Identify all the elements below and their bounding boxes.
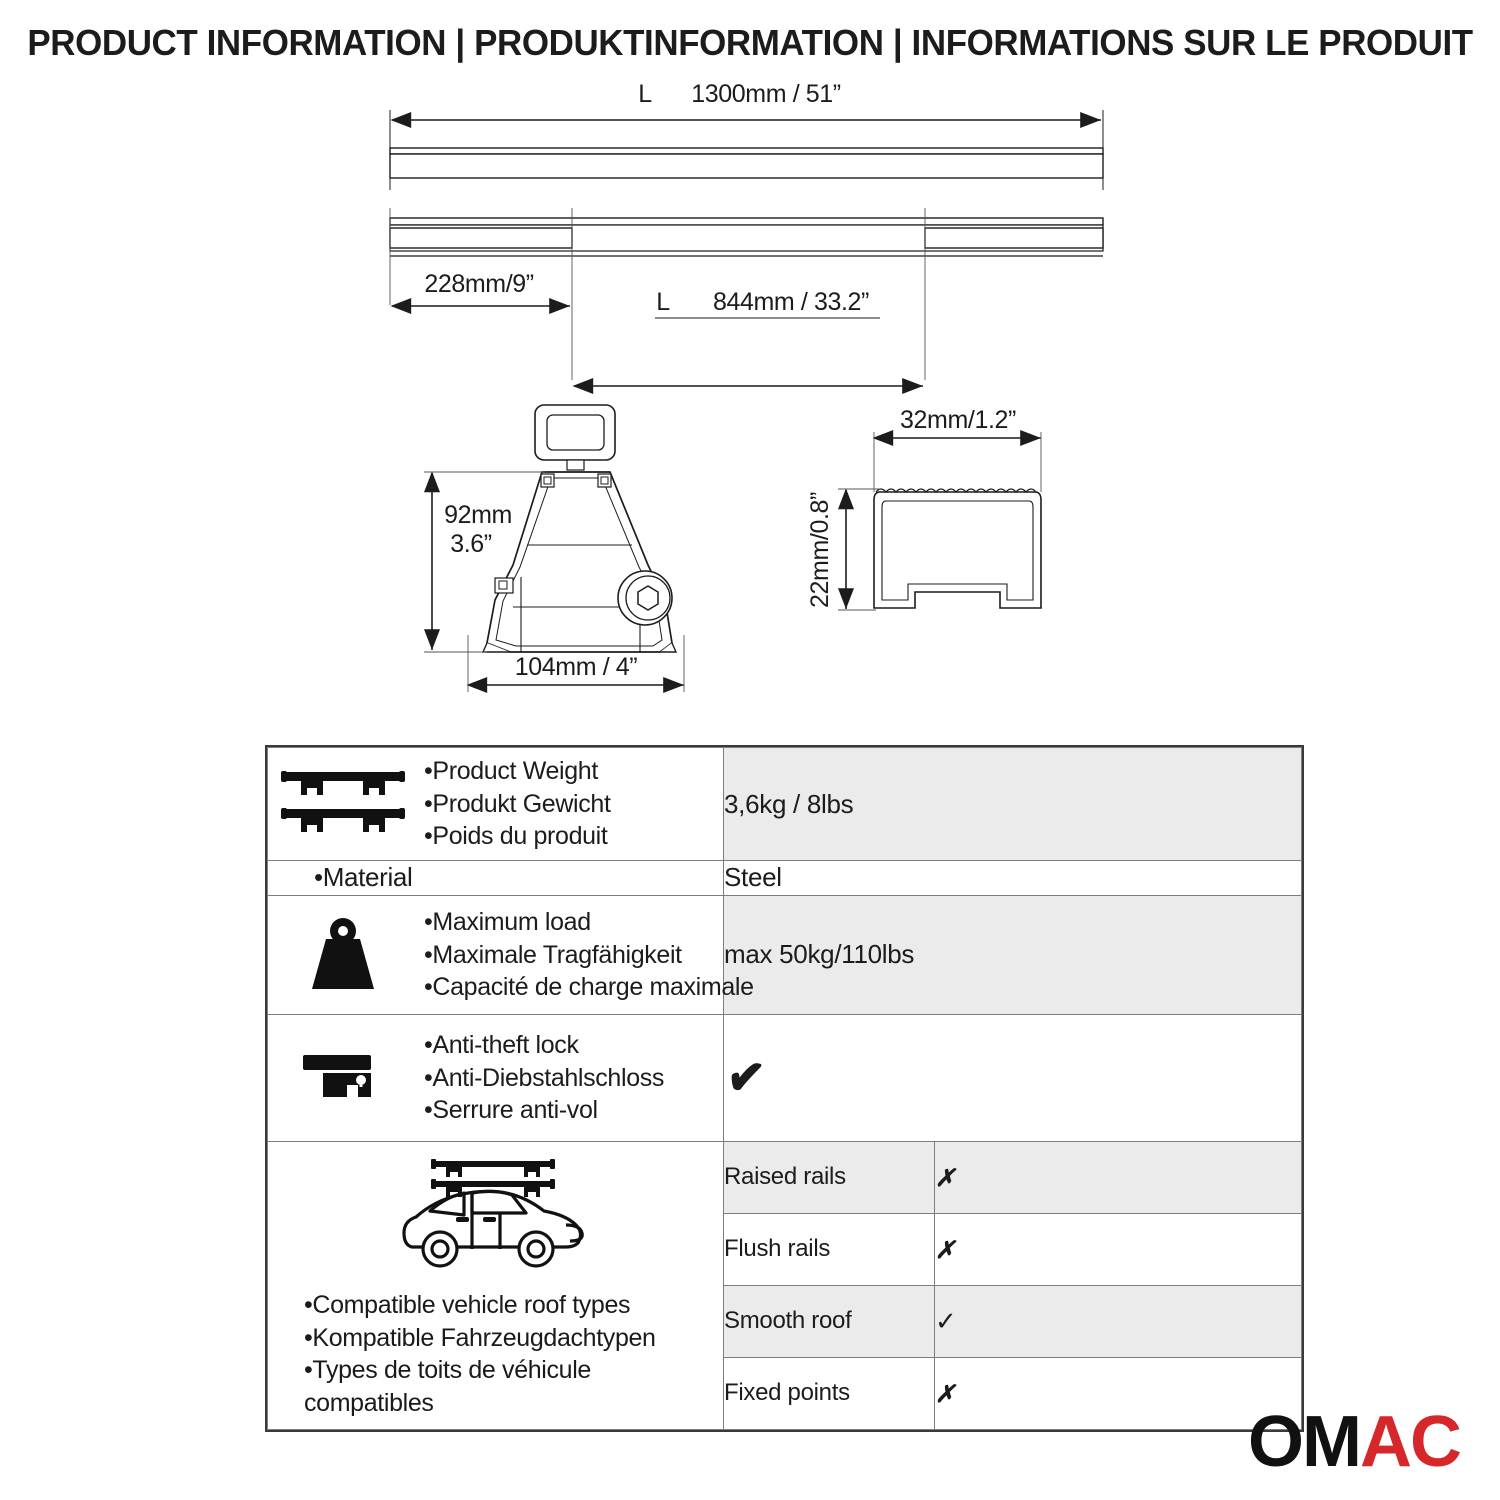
roof-type-row-flush-rails: Flush rails ✗ xyxy=(724,1213,1301,1285)
logo-text-om: OM xyxy=(1248,1402,1360,1482)
cross-icon: ✗ xyxy=(935,1381,955,1408)
table-row-anti-theft-lock: •Anti-theft lock •Anti-Diebstahlschloss … xyxy=(268,1014,1302,1141)
table-row-product-weight: •Product Weight •Produkt Gewicht •Poids … xyxy=(268,748,1302,861)
label-line: •Poids du produit xyxy=(424,820,611,853)
dim-foot-height-in: 3.6” xyxy=(450,530,492,558)
row-label-text: •Anti-theft lock •Anti-Diebstahlschloss … xyxy=(424,1029,664,1127)
label-line: •Compatible vehicle roof types xyxy=(304,1289,723,1322)
row-label-text: •Compatible vehicle roof types •Kompatib… xyxy=(268,1289,723,1419)
row-label-cell: •Compatible vehicle roof types •Kompatib… xyxy=(268,1141,724,1429)
roof-types-subtable: Raised rails ✗ Flush rails ✗ xyxy=(724,1142,1301,1429)
dim-bar-length-prefix: L xyxy=(638,80,652,108)
label-line: •Anti-Diebstahlschloss xyxy=(424,1062,664,1095)
row-label-text: •Product Weight •Produkt Gewicht •Poids … xyxy=(424,755,611,853)
roof-type-row-raised-rails: Raised rails ✗ xyxy=(724,1142,1301,1214)
foot-front-view xyxy=(483,405,676,652)
row-label-cell: •Material xyxy=(268,861,724,896)
label-line: •Produkt Gewicht xyxy=(424,788,611,821)
label-line: •Capacité de charge maximale xyxy=(424,971,754,1004)
label-line: •Product Weight xyxy=(424,755,611,788)
logo-text-ac: AC xyxy=(1360,1402,1460,1482)
row-label-cell: •Maximum load •Maximale Tragfähigkeit •C… xyxy=(268,895,724,1014)
table-row-maximum-load: •Maximum load •Maximale Tragfähigkeit •C… xyxy=(268,895,1302,1014)
row-label-text: •Material xyxy=(314,861,723,895)
car-with-roofrack-icon xyxy=(268,1155,723,1275)
dim-foot-offset-value: 228mm/9” xyxy=(424,270,533,298)
dim-profile-width-value: 32mm/1.2” xyxy=(900,406,1016,434)
dim-profile-height-value: 22mm/0.8” xyxy=(806,492,834,608)
cross-icon: ✗ xyxy=(935,1165,955,1192)
cross-icon: ✗ xyxy=(935,1237,955,1264)
label-line: •Maximale Tragfähigkeit xyxy=(424,939,754,972)
roof-type-mark: ✗ xyxy=(935,1142,1302,1214)
checkmark-icon: ✔ xyxy=(724,1049,767,1107)
roof-type-name: Raised rails xyxy=(724,1142,935,1214)
specification-table: •Product Weight •Produkt Gewicht •Poids … xyxy=(265,745,1304,1432)
label-line: •Material xyxy=(314,861,723,895)
label-line: compatibles xyxy=(304,1387,723,1420)
roof-type-row-fixed-points: Fixed points ✗ xyxy=(724,1357,1301,1429)
omac-logo: OMAC xyxy=(1248,1406,1460,1478)
roof-type-mark: ✗ xyxy=(935,1213,1302,1285)
row-label-cell: •Product Weight •Produkt Gewicht •Poids … xyxy=(268,748,724,861)
dim-foot-height-mm: 92mm xyxy=(444,501,512,529)
table-row-roof-types: •Compatible vehicle roof types •Kompatib… xyxy=(268,1141,1302,1429)
row-value-anti-theft-lock: ✔ xyxy=(724,1014,1302,1141)
weight-icon xyxy=(268,915,418,995)
profile-cross-section xyxy=(874,489,1041,608)
roof-type-name: Flush rails xyxy=(724,1213,935,1285)
crossbars-icon xyxy=(268,767,418,841)
page-title-text: PRODUCT INFORMATION | PRODUKTINFORMATION… xyxy=(27,22,1472,64)
table-row-material: •Material Steel xyxy=(268,861,1302,896)
roof-type-mark: ✗ xyxy=(935,1357,1302,1429)
technical-drawing: L 1300mm / 51” 228mm/9” xyxy=(0,80,1500,730)
row-value-maximum-load: max 50kg/110lbs xyxy=(724,895,1302,1014)
dim-profile-width xyxy=(874,432,1041,492)
roof-type-mark: ✓ xyxy=(935,1285,1302,1357)
product-information-sheet: PRODUCT INFORMATION | PRODUKTINFORMATION… xyxy=(0,0,1500,1500)
row-value-material: Steel xyxy=(724,861,1302,896)
label-line: •Maximum load xyxy=(424,906,754,939)
label-line: •Kompatible Fahrzeugdachtypen xyxy=(304,1322,723,1355)
dim-bar-spread-value: 844mm / 33.2” xyxy=(713,288,869,316)
roof-type-name: Smooth roof xyxy=(724,1285,935,1357)
dim-foot-width-value: 104mm / 4” xyxy=(515,653,638,681)
lock-icon xyxy=(268,1047,418,1109)
crossbar-side-view xyxy=(390,148,1103,178)
dim-bar-spread-prefix: L xyxy=(656,288,670,316)
check-icon: ✓ xyxy=(935,1306,957,1336)
label-line: •Anti-theft lock xyxy=(424,1029,664,1062)
dim-bar-length-value: 1300mm / 51” xyxy=(691,80,841,108)
row-label-cell: •Anti-theft lock •Anti-Diebstahlschloss … xyxy=(268,1014,724,1141)
label-line: •Types de toits de véhicule xyxy=(304,1354,723,1387)
page-title: PRODUCT INFORMATION | PRODUKTINFORMATION… xyxy=(0,22,1500,64)
dim-bar-spread xyxy=(574,318,923,386)
row-label-text: •Maximum load •Maximale Tragfähigkeit •C… xyxy=(424,906,754,1004)
roof-type-row-smooth-roof: Smooth roof ✓ xyxy=(724,1285,1301,1357)
roof-type-name: Fixed points xyxy=(724,1357,935,1429)
roof-types-subtable-cell: Raised rails ✗ Flush rails ✗ xyxy=(724,1141,1302,1429)
row-value-product-weight: 3,6kg / 8lbs xyxy=(724,748,1302,861)
label-line: •Serrure anti-vol xyxy=(424,1094,664,1127)
